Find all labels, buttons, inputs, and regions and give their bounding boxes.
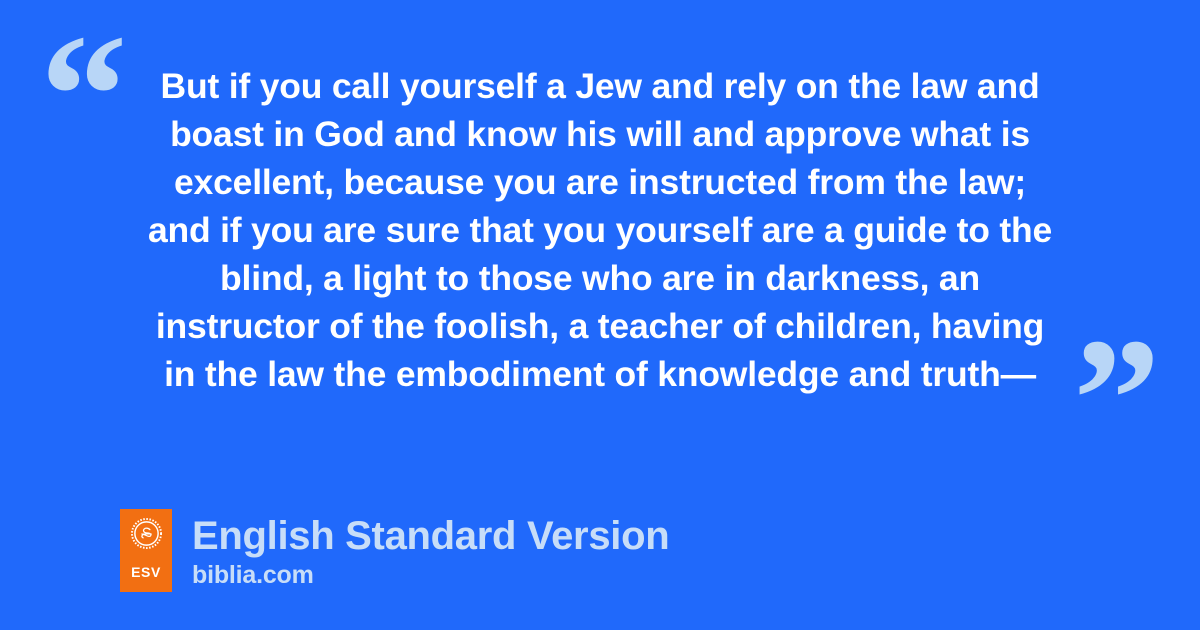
quote-text: But if you call yourself a Jew and rely … xyxy=(112,62,1088,398)
esv-logo: ESV xyxy=(120,509,172,592)
bible-version-name: English Standard Version xyxy=(192,511,669,561)
esv-logo-label: ESV xyxy=(131,565,161,579)
footer-text-block: English Standard Version biblia.com xyxy=(192,509,669,590)
closing-quote-icon: ” xyxy=(1073,312,1161,487)
site-url[interactable]: biblia.com xyxy=(192,560,669,590)
quote-card: “ But if you call yourself a Jew and rel… xyxy=(0,0,1200,630)
attribution-footer: ESV English Standard Version biblia.com xyxy=(120,509,669,592)
esv-seal-icon xyxy=(131,518,162,549)
